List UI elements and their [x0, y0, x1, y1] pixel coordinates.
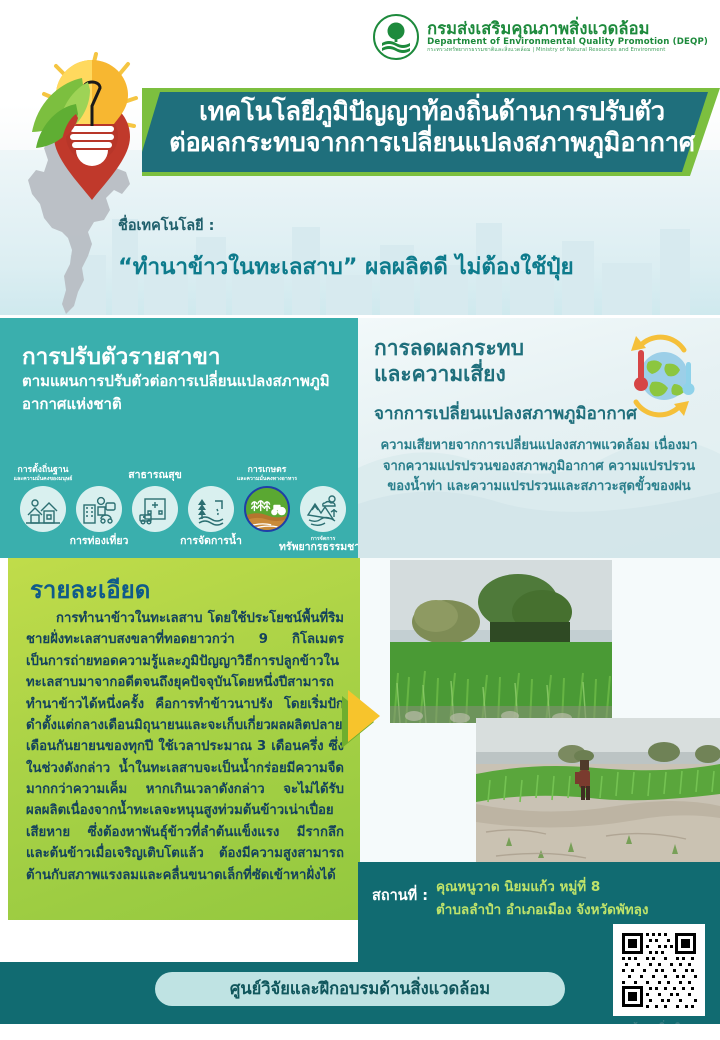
- bottom-white-strip: [0, 1024, 720, 1040]
- photo-rice-paddy-lake-trees: [390, 560, 612, 723]
- natural-resources-mountain-icon: [300, 486, 346, 532]
- sector-label-main: ทรัพยากรธรรมชาติ: [279, 542, 367, 554]
- triangle-arrow-right-icon: [348, 690, 380, 742]
- org-name-th: กรมส่งเสริมคุณภาพสิ่งแวดล้อม: [427, 20, 708, 38]
- sector-icon-row: การตั้งถิ่นฐาน และความมั่นคงของมนุษย์ กา…: [4, 464, 358, 554]
- location-line1: คุณหนูวาด นิยมแก้ว หมู่ที่ 8: [436, 876, 710, 899]
- water-management-faucet-river-icon: [188, 486, 234, 532]
- details-body: การทำนาข้าวในทะเลสาบ โดยใช้ประโยชน์พื้นท…: [26, 608, 344, 886]
- sector-item-settlement[interactable]: การตั้งถิ่นฐาน และความมั่นคงของมนุษย์: [20, 486, 66, 532]
- sector-label-sub: และความมั่นคงทางอาหาร: [237, 476, 297, 482]
- sector-label-main: สาธารณสุข: [128, 470, 182, 482]
- public-health-hospital-icon: [132, 486, 178, 532]
- sector-item-agriculture[interactable]: การเกษตร และความมั่นคงทางอาหาร: [244, 486, 290, 532]
- poster-root: เทคโนโลยีภูมิปัญญาท้องถิ่นด้านการปรับตัว…: [0, 0, 720, 1040]
- sector-item-tourism[interactable]: การท่องเที่ยว: [76, 486, 122, 532]
- qr-code-icon[interactable]: [613, 924, 705, 1016]
- sector-panel-subheading: ตามแผนการปรับตัวต่อการเปลี่ยนแปลงสภาพภูม…: [22, 370, 344, 416]
- mitigation-subheading: จากการเปลี่ยนแปลงสภาพภูมิอากาศ: [374, 400, 637, 427]
- sector-label-main: การเกษตร: [237, 466, 297, 476]
- agriculture-wheat-tractor-icon: [244, 486, 290, 532]
- sector-adaptation-panel: การปรับตัวรายสาขา ตามแผนการปรับตัวต่อการ…: [0, 318, 358, 558]
- photo-farmer-rice-field-shore: [476, 718, 720, 866]
- sector-label-main: การจัดการน้ำ: [180, 536, 242, 548]
- sector-panel-heading: การปรับตัวรายสาขา: [22, 338, 221, 374]
- mitigation-body: ความเสียหายจากการเปลี่ยนแปลงสภาพแวดล้อม …: [372, 436, 706, 498]
- org-name-en: Department of Environmental Quality Prom…: [427, 38, 708, 47]
- org-ministry: กระทรวงทรัพยากรธรรมชาติและสิ่งแวดล้อม | …: [427, 48, 708, 54]
- deqp-logo: กรมส่งเสริมคุณภาพสิ่งแวดล้อม Department …: [373, 14, 708, 60]
- poster-title-line1: เทคโนโลยีภูมิปัญญาท้องถิ่นด้านการปรับตัว: [166, 97, 698, 128]
- technology-name: “ทำนาข้าวในทะเลสาบ” ผลผลิตดี ไม่ต้องใช้ป…: [118, 248, 690, 284]
- sector-item-water-management[interactable]: การจัดการน้ำ: [188, 486, 234, 532]
- tourism-city-traveller-icon: [76, 486, 122, 532]
- sector-label-main: การตั้งถิ่นฐาน: [14, 466, 73, 476]
- photo-gallery: [358, 558, 720, 868]
- globe-thermometer-cycle-icon: [614, 330, 706, 422]
- sector-label-sub: และความมั่นคงของมนุษย์: [14, 476, 73, 482]
- settlement-houses-icon: [20, 486, 66, 532]
- mitigation-heading-line1: การลดผลกระทบ: [374, 336, 524, 362]
- deqp-tree-water-emblem-icon: [373, 14, 419, 60]
- mitigation-panel: การลดผลกระทบ และความเสี่ยง จากการเปลี่ยน…: [358, 318, 720, 558]
- mitigation-heading: การลดผลกระทบ และความเสี่ยง: [374, 336, 524, 387]
- poster-title-line2: ต่อผลกระทบจากการเปลี่ยนแปลงสภาพภูมิอากาศ: [166, 128, 698, 159]
- location-label: สถานที่ :: [372, 884, 428, 907]
- footer-pill[interactable]: ศูนย์วิจัยและฝึกอบรมด้านสิ่งแวดล้อม: [155, 972, 565, 1006]
- footer-text: ศูนย์วิจัยและฝึกอบรมด้านสิ่งแวดล้อม: [230, 976, 490, 1002]
- mitigation-heading-line2: และความเสี่ยง: [374, 362, 524, 388]
- sector-item-natural-resources[interactable]: การจัดการ ทรัพยากรธรรมชาติ: [300, 486, 346, 532]
- details-heading: รายละเอียด: [30, 570, 150, 609]
- sector-label-main: การท่องเที่ยว: [70, 536, 129, 548]
- poster-title-ribbon: เทคโนโลยีภูมิปัญญาท้องถิ่นด้านการปรับตัว…: [142, 88, 720, 176]
- details-panel: รายละเอียด การทำนาข้าวในทะเลสาบ โดยใช้ปร…: [8, 558, 360, 920]
- sector-item-public-health[interactable]: สาธารณสุข: [132, 486, 178, 532]
- technology-label: ชื่อเทคโนโลยี :: [118, 214, 214, 237]
